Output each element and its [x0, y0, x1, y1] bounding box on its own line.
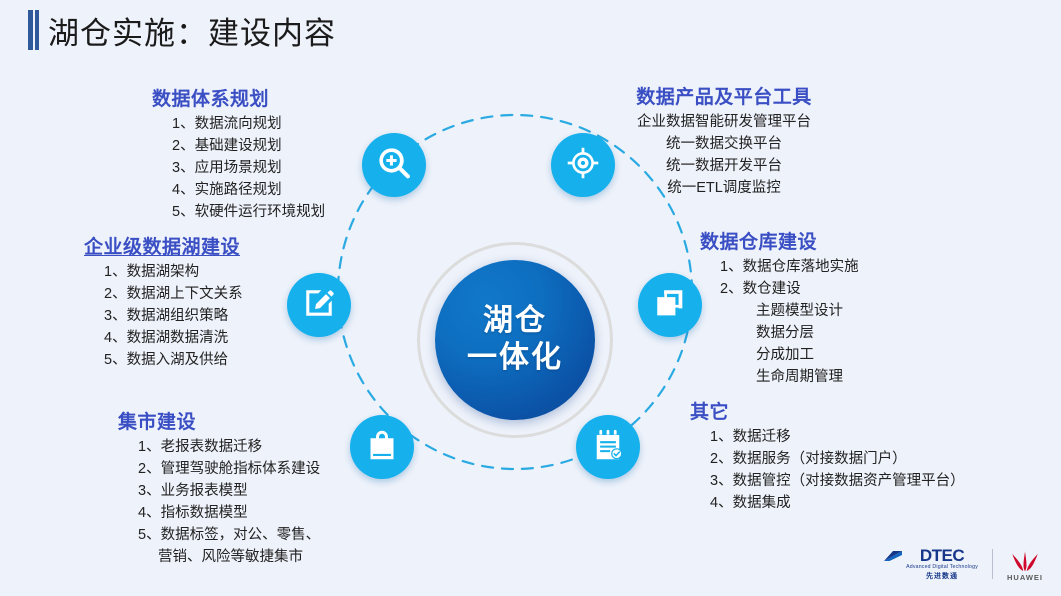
center-circle: 湖仓 一体化: [435, 260, 595, 420]
list-item: 统一数据交换平台: [604, 133, 844, 155]
list-item: 4、数据集成: [710, 492, 965, 514]
crosshair-target-icon: [566, 146, 600, 185]
dtec-arrow-icon: [883, 550, 903, 563]
notepad-check-icon: [591, 428, 625, 467]
page-title: 湖仓实施：建设内容: [48, 8, 336, 53]
block-list: 1、数据流向规划 2、基础建设规划 3、应用场景规划 4、实施路径规划 5、软硬…: [152, 113, 325, 223]
list-item: 1、数据仓库落地实施: [720, 256, 859, 278]
title-accent-bar: [28, 10, 39, 50]
block-data-warehouse: 数据仓库建设 1、数据仓库落地实施 2、数仓建设 主题模型设计 数据分层 分成加…: [700, 227, 859, 388]
list-item: 3、应用场景规划: [172, 157, 325, 179]
block-list: 企业数据智能研发管理平台 统一数据交换平台 统一数据开发平台 统一ETL调度监控: [604, 111, 844, 199]
list-item: 分成加工: [756, 344, 859, 366]
block-enterprise-data-lake: 企业级数据湖建设 1、数据湖架构 2、数据湖上下文关系 3、数据湖组织策略 4、…: [84, 232, 243, 371]
block-heading: 数据仓库建设: [700, 227, 859, 254]
huawei-flower-icon: [1008, 546, 1042, 572]
logo-divider: [992, 549, 993, 579]
copy-layers-icon: [653, 286, 687, 325]
page-header: 湖仓实施：建设内容: [0, 0, 1061, 62]
huawei-logo: HUAWEI: [1007, 546, 1043, 582]
dtec-chinese-name: 先进数通: [926, 572, 958, 582]
list-item: 5、软硬件运行环境规划: [172, 201, 325, 223]
block-data-products-platform-tools: 数据产品及平台工具 企业数据智能研发管理平台 统一数据交换平台 统一数据开发平台…: [604, 82, 844, 199]
magnifier-plus-icon: [377, 146, 411, 185]
dtec-wordmark: DTEC: [920, 547, 964, 564]
block-sublist: 主题模型设计 数据分层 分成加工 生命周期管理: [700, 300, 859, 388]
list-item: 2、基础建设规划: [172, 135, 325, 157]
block-heading: 企业级数据湖建设: [84, 232, 243, 259]
block-list: 1、数据迁移 2、数据服务（对接数据门户） 3、数据管控（对接数据资产管理平台）…: [690, 426, 965, 514]
list-item: 2、数据服务（对接数据门户）: [710, 448, 965, 470]
list-item: 统一数据开发平台: [604, 155, 844, 177]
node-shopping-bag[interactable]: [350, 415, 414, 479]
node-edit-pencil[interactable]: [287, 273, 351, 337]
dtec-logo: DTEC Advanced Digital Technology 先进数通: [883, 547, 978, 582]
block-list: 1、数据湖架构 2、数据湖上下文关系 3、数据湖组织策略 4、数据湖数据清洗 5…: [84, 261, 243, 371]
list-item: 统一ETL调度监控: [604, 177, 844, 199]
block-list: 1、数据仓库落地实施 2、数仓建设: [700, 256, 859, 300]
list-item: 主题模型设计: [756, 300, 859, 322]
node-magnifier-plus[interactable]: [362, 133, 426, 197]
list-item: 3、数据管控（对接数据资产管理平台）: [710, 470, 965, 492]
block-heading: 数据产品及平台工具: [604, 82, 844, 109]
list-item: 3、数据湖组织策略: [104, 305, 243, 327]
list-item: 2、管理驾驶舱指标体系建设: [138, 458, 320, 480]
shopping-bag-icon: [365, 428, 399, 467]
block-heading: 数据体系规划: [152, 84, 325, 111]
huawei-wordmark: HUAWEI: [1007, 573, 1043, 582]
node-copy-layers[interactable]: [638, 273, 702, 337]
list-item: 2、数仓建设: [720, 278, 859, 300]
block-heading: 集市建设: [118, 407, 320, 434]
page-footer: DTEC Advanced Digital Technology 先进数通 HU…: [0, 542, 1061, 596]
dtec-subtitle: Advanced Digital Technology: [906, 564, 978, 572]
dtec-text-wrap: DTEC Advanced Digital Technology 先进数通: [906, 547, 978, 582]
block-heading: 其它: [690, 397, 965, 424]
list-item: 数据分层: [756, 322, 859, 344]
list-item: 2、数据湖上下文关系: [104, 283, 243, 305]
logo-group: DTEC Advanced Digital Technology 先进数通 HU…: [883, 546, 1043, 582]
list-item: 4、指标数据模型: [138, 502, 320, 524]
list-item: 4、数据湖数据清洗: [104, 327, 243, 349]
list-item: 4、实施路径规划: [172, 179, 325, 201]
edit-pencil-square-icon: [302, 286, 336, 325]
list-item: 3、业务报表模型: [138, 480, 320, 502]
center-label: 湖仓 一体化: [467, 303, 563, 376]
block-others: 其它 1、数据迁移 2、数据服务（对接数据门户） 3、数据管控（对接数据资产管理…: [690, 397, 965, 514]
list-item: 1、数据迁移: [710, 426, 965, 448]
list-item: 5、数据入湖及供给: [104, 349, 243, 371]
list-item: 1、数据流向规划: [172, 113, 325, 135]
list-item: 企业数据智能研发管理平台: [604, 111, 844, 133]
list-item: 生命周期管理: [756, 366, 859, 388]
diagram-stage: 湖仓 一体化: [0, 62, 1061, 542]
list-item: 1、数据湖架构: [104, 261, 243, 283]
block-data-system-planning: 数据体系规划 1、数据流向规划 2、基础建设规划 3、应用场景规划 4、实施路径…: [152, 84, 325, 223]
node-notepad-check[interactable]: [576, 415, 640, 479]
list-item: 1、老报表数据迁移: [138, 436, 320, 458]
